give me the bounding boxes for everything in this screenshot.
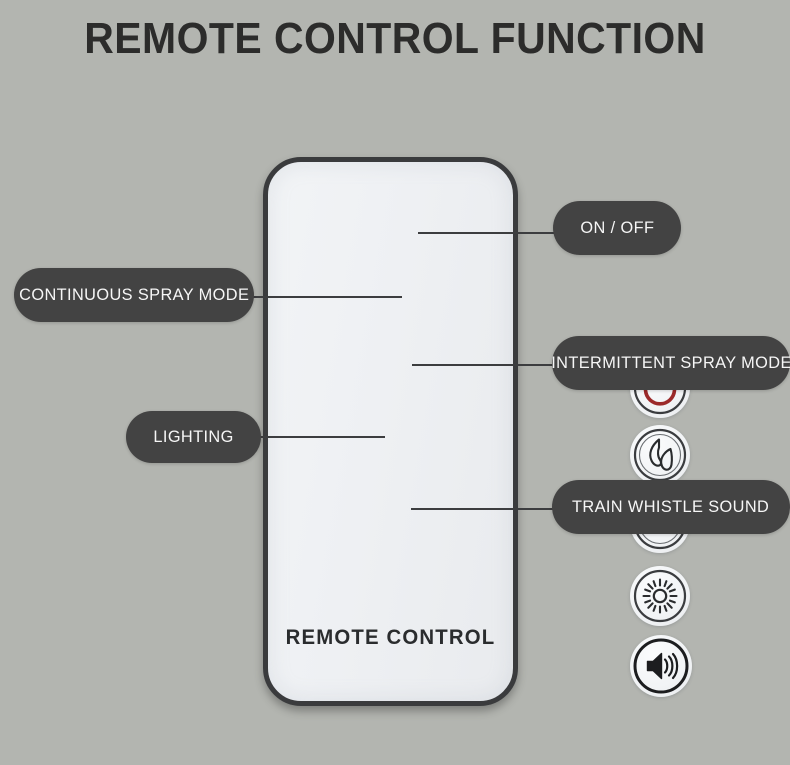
connector-line-intermittent-spray: [412, 364, 554, 366]
label-continuous-spray-mode: CONTINUOUS SPRAY MODE: [14, 268, 254, 322]
label-continuous-spray-mode-text: CONTINUOUS SPRAY MODE: [19, 286, 249, 305]
remote-control-body: REMOTE CONTROL: [263, 157, 518, 706]
remote-brand-text: REMOTE CONTROL: [272, 626, 510, 650]
page-title: REMOTE CONTROL FUNCTION: [28, 14, 763, 64]
button-continuous-spray-mode[interactable]: [630, 425, 690, 485]
connector-line-lighting: [259, 436, 385, 438]
label-intermittent-spray-mode-text: INTERMITTENT SPRAY MODE: [551, 354, 790, 373]
speaker-sound-icon: [632, 637, 690, 695]
continuous-mist-icon: [632, 427, 688, 483]
label-on-off-text: ON / OFF: [580, 219, 654, 238]
button-train-whistle-sound[interactable]: [630, 635, 692, 697]
connector-line-train-whistle: [411, 508, 554, 510]
label-lighting: LIGHTING: [126, 411, 261, 463]
connector-line-on-off: [418, 232, 555, 234]
label-train-whistle-sound-text: TRAIN WHISTLE SOUND: [572, 498, 769, 517]
label-intermittent-spray-mode: INTERMITTENT SPRAY MODE: [552, 336, 790, 390]
sun-icon: [632, 568, 688, 624]
button-lighting[interactable]: [630, 566, 690, 626]
label-on-off: ON / OFF: [553, 201, 681, 255]
connector-line-continuous-spray: [252, 296, 402, 298]
label-lighting-text: LIGHTING: [153, 428, 233, 447]
label-train-whistle-sound: TRAIN WHISTLE SOUND: [552, 480, 790, 534]
